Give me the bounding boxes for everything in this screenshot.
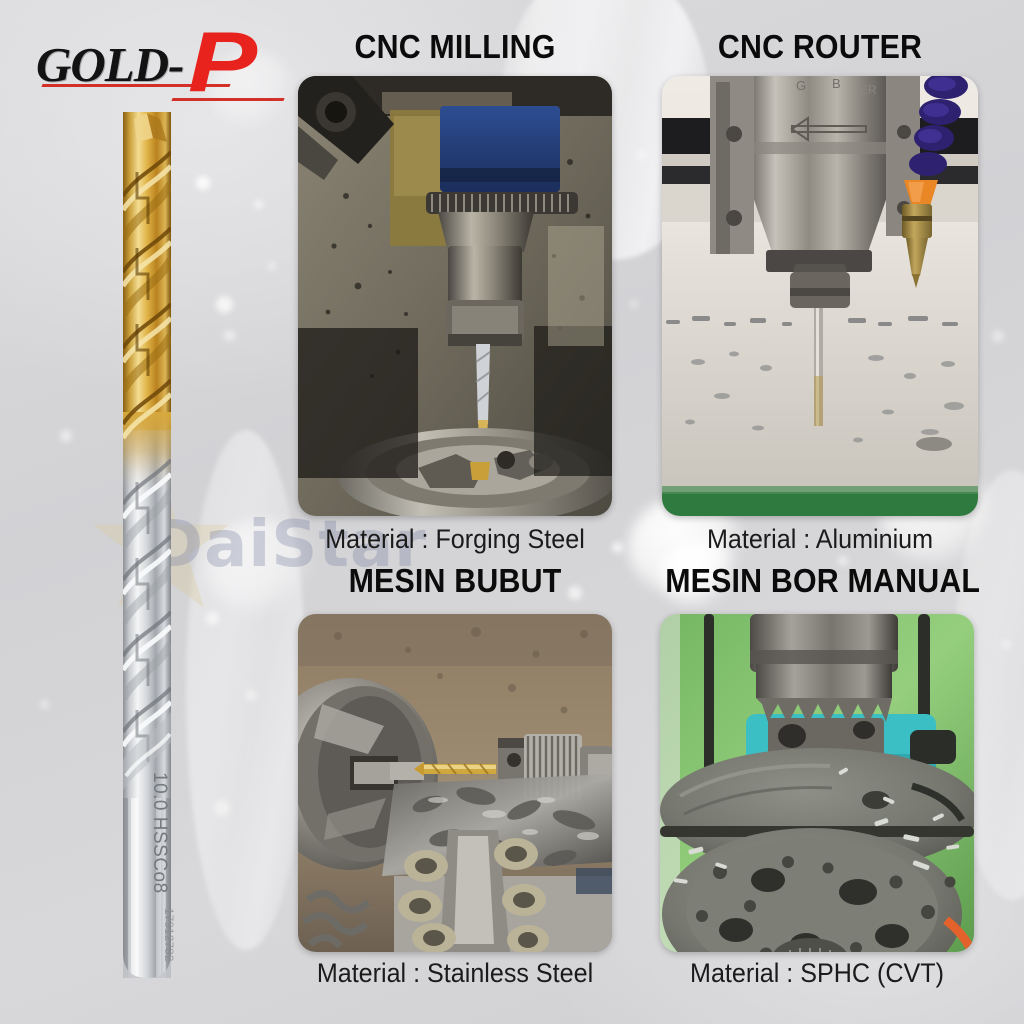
bokeh-dot <box>1002 640 1011 649</box>
svg-text:ER: ER <box>860 83 877 97</box>
drill-engraving-serial: 17912782 <box>162 908 176 962</box>
bokeh-dot <box>216 296 233 313</box>
svg-text:G: G <box>796 78 806 93</box>
panel-title: CNC ROUTER <box>673 28 967 66</box>
bokeh-dot <box>60 430 72 442</box>
bokeh-dot <box>214 800 230 816</box>
bokeh-dot <box>40 700 49 709</box>
bokeh-dot <box>196 176 210 190</box>
panel-photo <box>298 76 612 516</box>
panel-caption: Material : Stainless Steel <box>307 958 603 989</box>
panel-mesin-bubut: MESIN BUBUT <box>296 562 614 994</box>
panel-photo <box>660 614 974 952</box>
panel-title: CNC MILLING <box>309 28 602 66</box>
bokeh-dot <box>630 300 638 308</box>
drill-engraving-text: 10.0 HSSCo8 <box>149 772 170 894</box>
panel-photo: G B ER <box>662 76 978 516</box>
logo-letter-p: P <box>188 20 257 105</box>
bokeh-dot <box>254 200 263 209</box>
panel-cnc-router: CNC ROUTER <box>660 28 980 528</box>
bokeh-dot <box>206 612 219 625</box>
panel-caption: Material : Forging Steel <box>307 524 603 555</box>
logo-word-gold: GOLD- <box>36 36 183 93</box>
panel-title: MESIN BUBUT <box>309 562 602 600</box>
bokeh-dot <box>246 690 256 700</box>
brand-logo: GOLD- P <box>36 34 286 96</box>
bokeh-dot <box>612 542 623 553</box>
panel-mesin-bor-manual: MESIN BOR MANUAL <box>652 562 982 994</box>
panel-caption: Material : SPHC (CVT) <box>664 958 971 989</box>
panel-photo <box>298 614 612 952</box>
bokeh-dot <box>268 262 276 270</box>
poster-canvas: DaiStar GOLD- P <box>0 0 1024 1024</box>
drill-bit-product-image: 10.0 HSSCo8 17912782 <box>104 112 190 978</box>
bokeh-dot <box>992 330 1004 342</box>
panel-title: MESIN BOR MANUAL <box>665 562 969 600</box>
panel-cnc-milling: CNC MILLING <box>296 28 614 528</box>
panel-caption: Material : Aluminium <box>671 524 969 555</box>
bokeh-dot <box>636 150 646 160</box>
glossy-highlight-left <box>186 430 306 950</box>
bokeh-dot <box>224 330 235 341</box>
svg-text:B: B <box>832 76 841 91</box>
